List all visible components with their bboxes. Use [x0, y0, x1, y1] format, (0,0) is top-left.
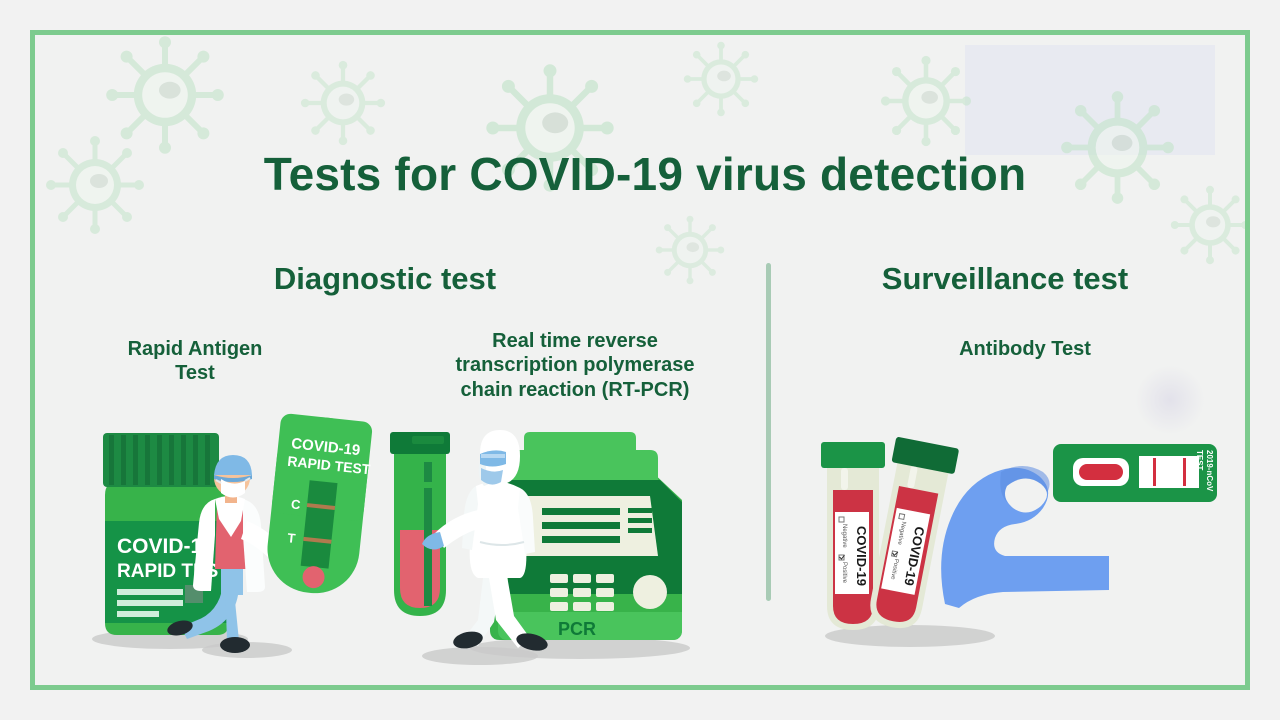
pcr-machine-label: PCR	[558, 619, 596, 639]
rapid-test-cassette: COVID-19 RAPID TEST C T	[263, 413, 375, 598]
test-label-line: transcription polymerase	[395, 353, 755, 377]
bottle-label-line2: RAPID TEST	[117, 561, 230, 582]
test-label-line: chain reaction (RT-PCR)	[395, 378, 755, 402]
illustration-rt-pcr: PCR	[380, 410, 720, 675]
pcr-test-tube	[390, 432, 450, 616]
virus-watermark-icon	[880, 55, 972, 147]
cassette-label-line1: 2019-nCoV	[1205, 450, 1214, 492]
test-label-line: Antibody Test	[845, 337, 1205, 361]
test-label-line: Rapid Antigen	[55, 337, 335, 361]
illustration-antibody-test: 2019-nCoV TEST COVID-19 Negative Positiv…	[805, 420, 1225, 665]
page-title: Tests for COVID-19 virus detection	[35, 147, 1250, 201]
illustration-rapid-antigen: COVID-19 RAPID TEST	[65, 395, 375, 670]
virus-watermark-icon	[683, 41, 759, 117]
tube-label: COVID-19	[854, 526, 869, 586]
tube-option-positive: Positive	[841, 562, 847, 584]
section-heading-surveillance: Surveillance test	[715, 261, 1250, 297]
antibody-test-cassette: 2019-nCoV TEST	[1053, 444, 1217, 502]
test-label-rt-pcr: Real time reverse transcription polymera…	[395, 329, 755, 402]
slide-frame: Tests for COVID-19 virus detection Diagn…	[30, 30, 1250, 690]
slide-canvas: Tests for COVID-19 virus detection Diagn…	[0, 0, 1280, 720]
test-label-line: Test	[55, 361, 335, 385]
test-label-rapid-antigen: Rapid Antigen Test	[55, 337, 335, 386]
section-heading-diagnostic: Diagnostic test	[165, 261, 605, 297]
virus-watermark-icon	[300, 60, 386, 146]
test-label-line: Real time reverse	[395, 329, 755, 353]
virus-watermark-icon	[105, 35, 225, 155]
cassette-label-line2: TEST	[1195, 450, 1204, 471]
section-divider	[766, 263, 771, 601]
cassette-marker-test: T	[287, 530, 297, 546]
tube-option-negative: Negative	[841, 524, 847, 548]
test-label-antibody: Antibody Test	[845, 337, 1205, 361]
background-panel	[965, 45, 1215, 155]
